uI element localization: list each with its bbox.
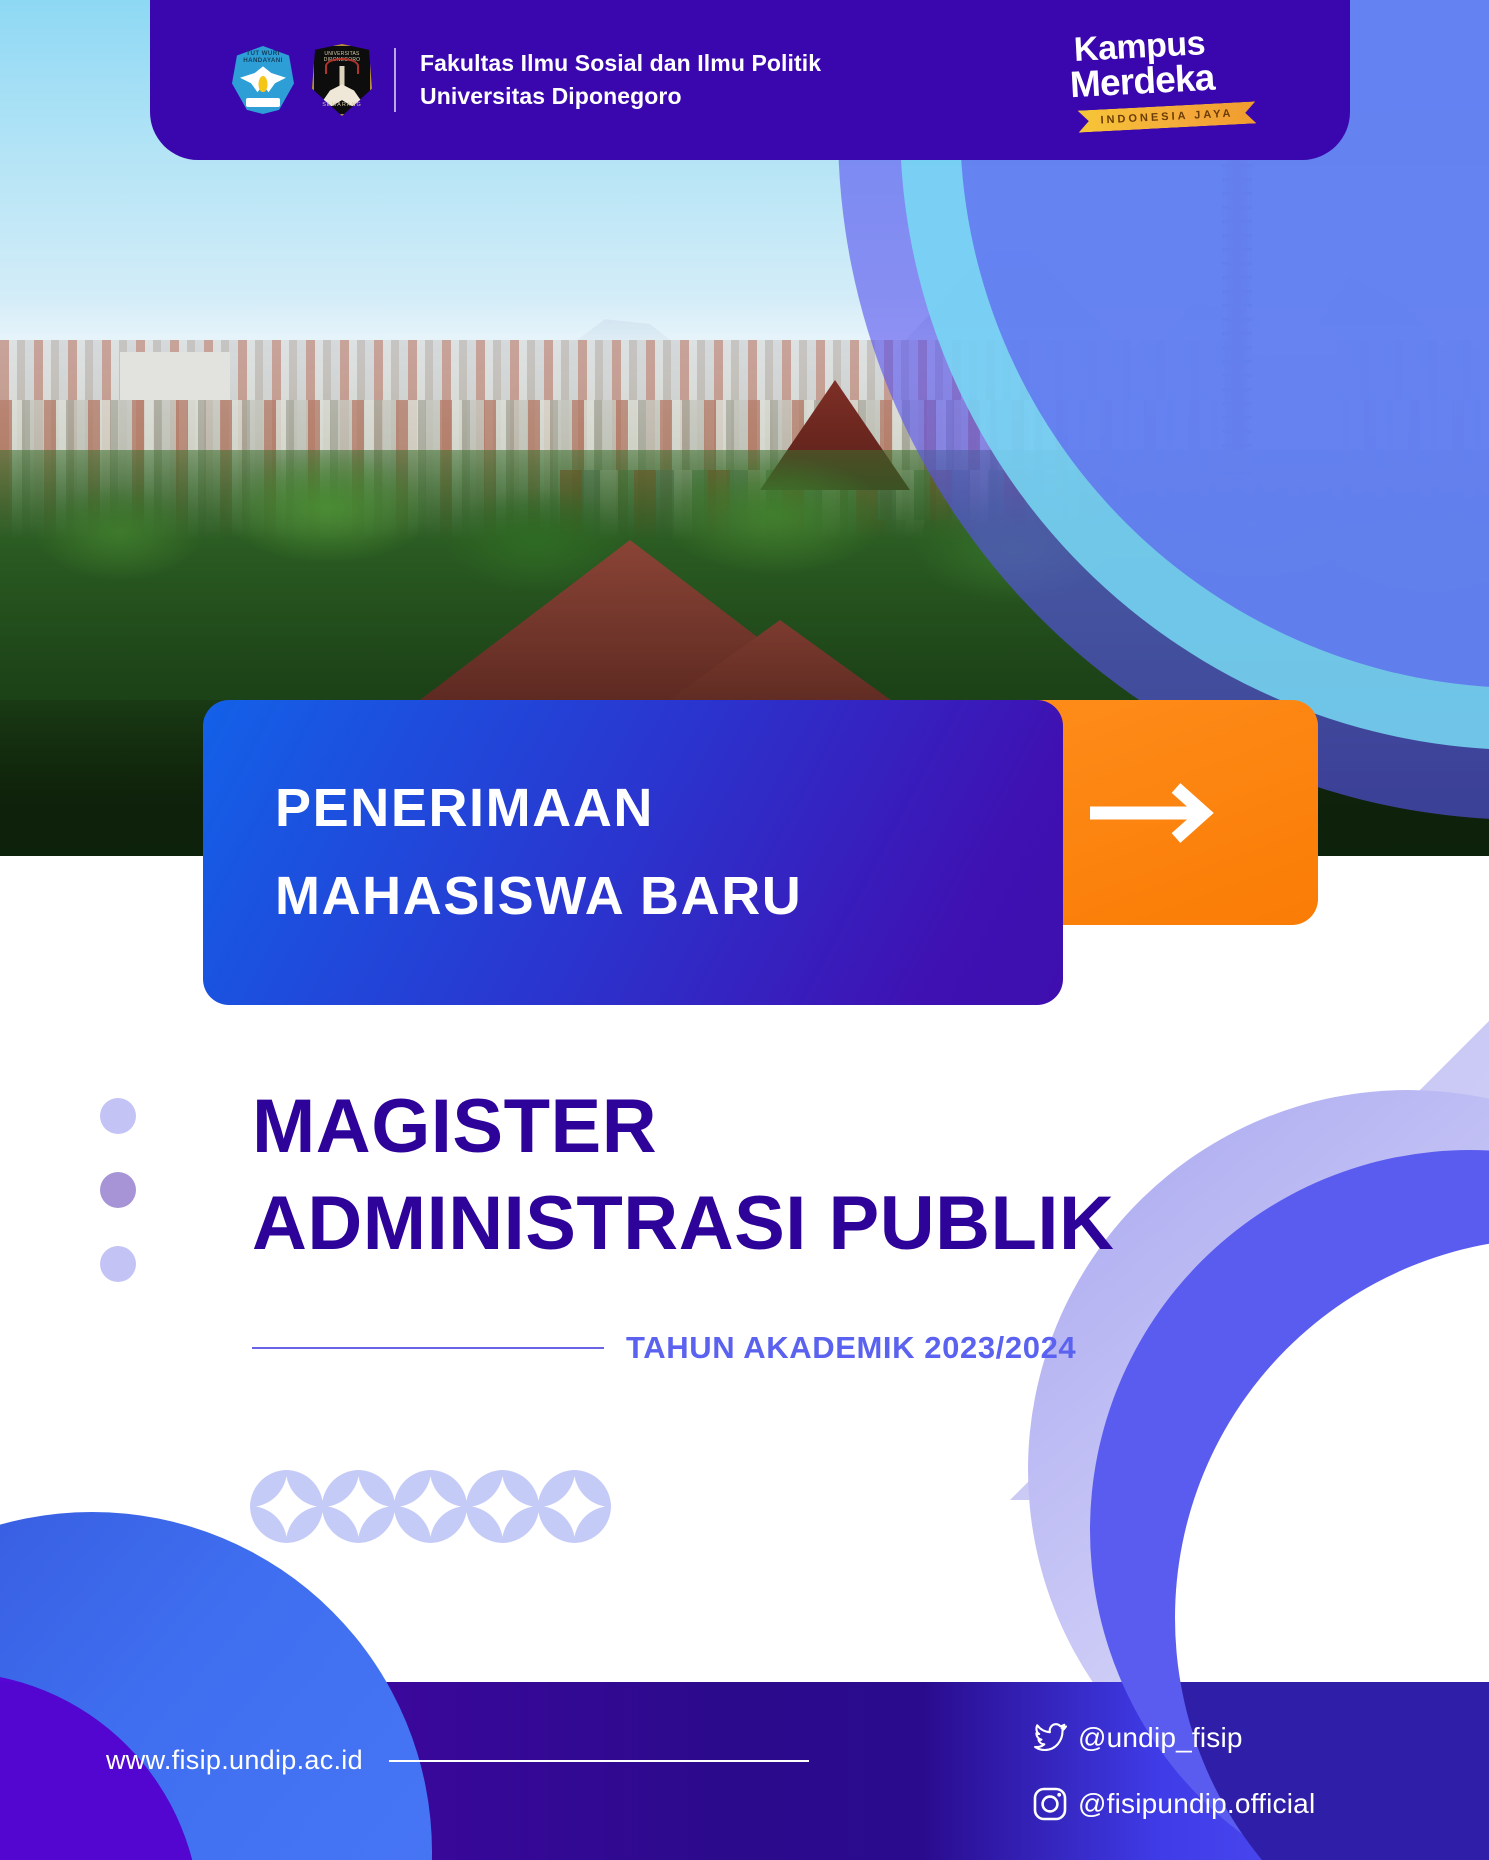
admissions-banner: PENERIMAAN MAHASISWA BARU <box>203 700 1063 1005</box>
program-name: ADMINISTRASI PUBLIK <box>252 1175 1114 1272</box>
kampus-merdeka-ribbon: INDONESIA JAYA <box>1078 101 1257 132</box>
petal <box>322 1470 359 1507</box>
petal <box>286 1470 323 1507</box>
header-divider <box>394 48 396 112</box>
flower-motif <box>322 1470 395 1543</box>
academic-year-row: TAHUN AKADEMIK 2023/2024 <box>252 1330 1076 1366</box>
kampus-merdeka-ribbon-text: INDONESIA JAYA <box>1100 108 1234 127</box>
petal <box>358 1470 395 1507</box>
kemdikbud-flame <box>259 76 268 92</box>
academic-year-rule <box>252 1347 604 1349</box>
kemdikbud-logo-icon: TUT WURI HANDAYANI <box>232 46 294 114</box>
petal <box>466 1470 503 1507</box>
social-twitter[interactable]: @undip_fisip <box>1030 1718 1315 1758</box>
petal <box>502 1470 539 1507</box>
petal <box>430 1506 467 1543</box>
twitter-icon <box>1030 1718 1070 1758</box>
petal <box>502 1506 539 1543</box>
header-institution: Fakultas Ilmu Sosial dan Ilmu Politik Un… <box>420 47 821 114</box>
flower-motif <box>250 1470 323 1543</box>
program-title: MAGISTER ADMINISTRASI PUBLIK <box>252 1078 1114 1273</box>
petal <box>286 1506 323 1543</box>
website-row[interactable]: www.fisip.undip.ac.id <box>106 1745 809 1776</box>
decor-dot-2 <box>100 1172 136 1208</box>
flower-motif <box>394 1470 467 1543</box>
decor-dot-group <box>100 1098 136 1320</box>
twitter-handle[interactable]: @undip_fisip <box>1078 1722 1243 1754</box>
arrow-right-icon <box>1084 782 1234 844</box>
academic-year-text: TAHUN AKADEMIK 2023/2024 <box>626 1330 1076 1366</box>
decor-flower-pattern <box>250 1470 610 1543</box>
petal <box>538 1470 575 1507</box>
faculty-name: Fakultas Ilmu Sosial dan Ilmu Politik <box>420 47 821 80</box>
petal <box>574 1470 611 1507</box>
program-degree: MAGISTER <box>252 1078 1114 1175</box>
petal <box>574 1506 611 1543</box>
petal <box>358 1506 395 1543</box>
decor-dot-3 <box>100 1246 136 1282</box>
undip-logo-icon: UNIVERSITAS DIPONEGORO SEMARANG <box>312 44 372 116</box>
petal <box>466 1506 503 1543</box>
poster-header: TUT WURI HANDAYANI UNIVERSITAS DIPONEGOR… <box>150 0 1350 160</box>
admissions-line1: PENERIMAAN <box>275 765 1063 852</box>
website-rule <box>389 1760 809 1762</box>
instagram-handle[interactable]: @fisipundip.official <box>1078 1788 1315 1820</box>
kemdikbud-book <box>246 98 280 107</box>
petal <box>430 1470 467 1507</box>
petal <box>538 1506 575 1543</box>
website-url[interactable]: www.fisip.undip.ac.id <box>106 1745 363 1776</box>
university-name: Universitas Diponegoro <box>420 80 821 113</box>
undip-logo-bottom-text: SEMARANG <box>312 102 372 108</box>
social-links: @undip_fisip @fisipundip.official <box>1030 1718 1315 1850</box>
flower-motif <box>538 1470 611 1543</box>
petal <box>250 1470 287 1507</box>
petal <box>394 1506 431 1543</box>
instagram-icon <box>1030 1784 1070 1824</box>
social-instagram[interactable]: @fisipundip.official <box>1030 1784 1315 1824</box>
admissions-line2: MAHASISWA BARU <box>275 853 1063 940</box>
petal <box>322 1506 359 1543</box>
decor-dot-1 <box>100 1098 136 1134</box>
kemdikbud-motto: TUT WURI HANDAYANI <box>232 50 294 64</box>
petal <box>394 1470 431 1507</box>
kampus-merdeka-line2: Merdeka <box>1069 57 1261 102</box>
flower-motif <box>466 1470 539 1543</box>
petal <box>250 1506 287 1543</box>
kampus-merdeka-logo: Kampus Merdeka INDONESIA JAYA <box>1074 34 1264 126</box>
poster-root: TUT WURI HANDAYANI UNIVERSITAS DIPONEGOR… <box>0 0 1489 1860</box>
